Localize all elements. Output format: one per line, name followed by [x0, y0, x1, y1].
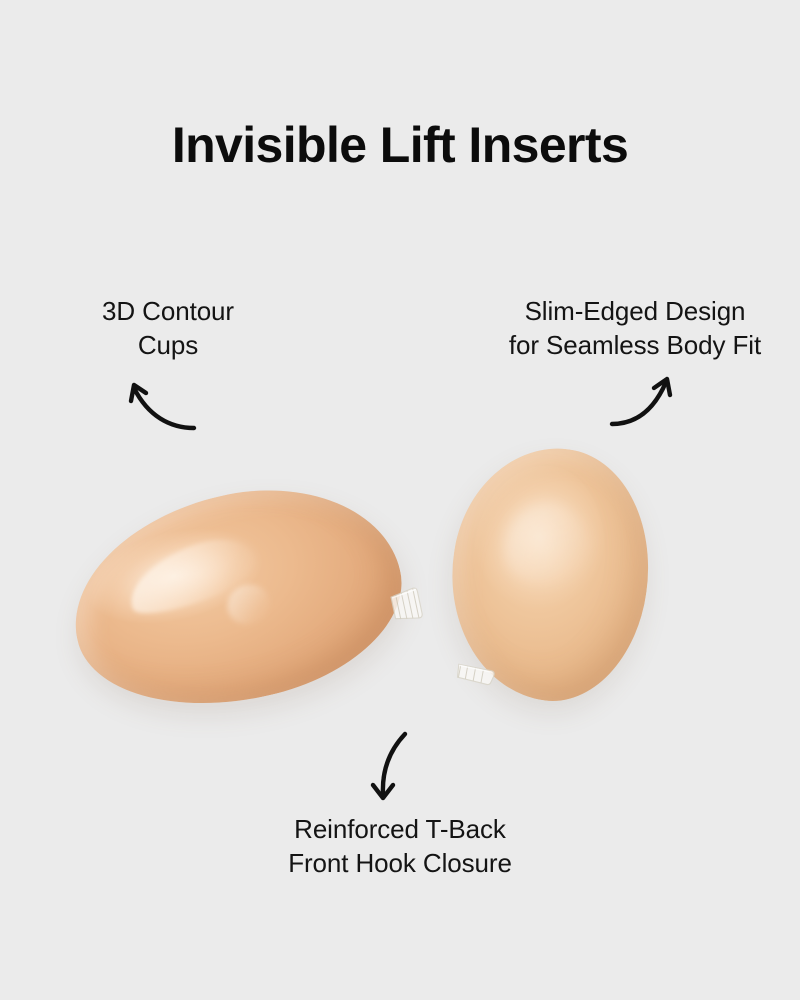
feature-label-line: for Seamless Body Fit — [470, 328, 800, 362]
feature-label-line: Front Hook Closure — [230, 846, 570, 880]
feature-label-line: 3D Contour — [28, 294, 308, 328]
page-title: Invisible Lift Inserts — [0, 118, 800, 173]
curved-arrow-down-icon — [352, 722, 442, 817]
feature-label-t-back-closure: Reinforced T-Back Front Hook Closure — [230, 812, 570, 881]
feature-label-line: Slim-Edged Design — [470, 294, 800, 328]
feature-label-contour-cups: 3D Contour Cups — [28, 294, 308, 363]
insert-left — [72, 495, 402, 700]
front-hook-icon — [453, 658, 497, 688]
feature-label-line: Cups — [28, 328, 308, 362]
product-image-stage — [0, 420, 800, 720]
feature-label-slim-edge: Slim-Edged Design for Seamless Body Fit — [470, 294, 800, 363]
feature-label-line: Reinforced T-Back — [230, 812, 570, 846]
front-hook-icon — [385, 582, 429, 629]
insert-right — [452, 448, 648, 700]
product-infographic: Invisible Lift Inserts — [0, 0, 800, 1000]
